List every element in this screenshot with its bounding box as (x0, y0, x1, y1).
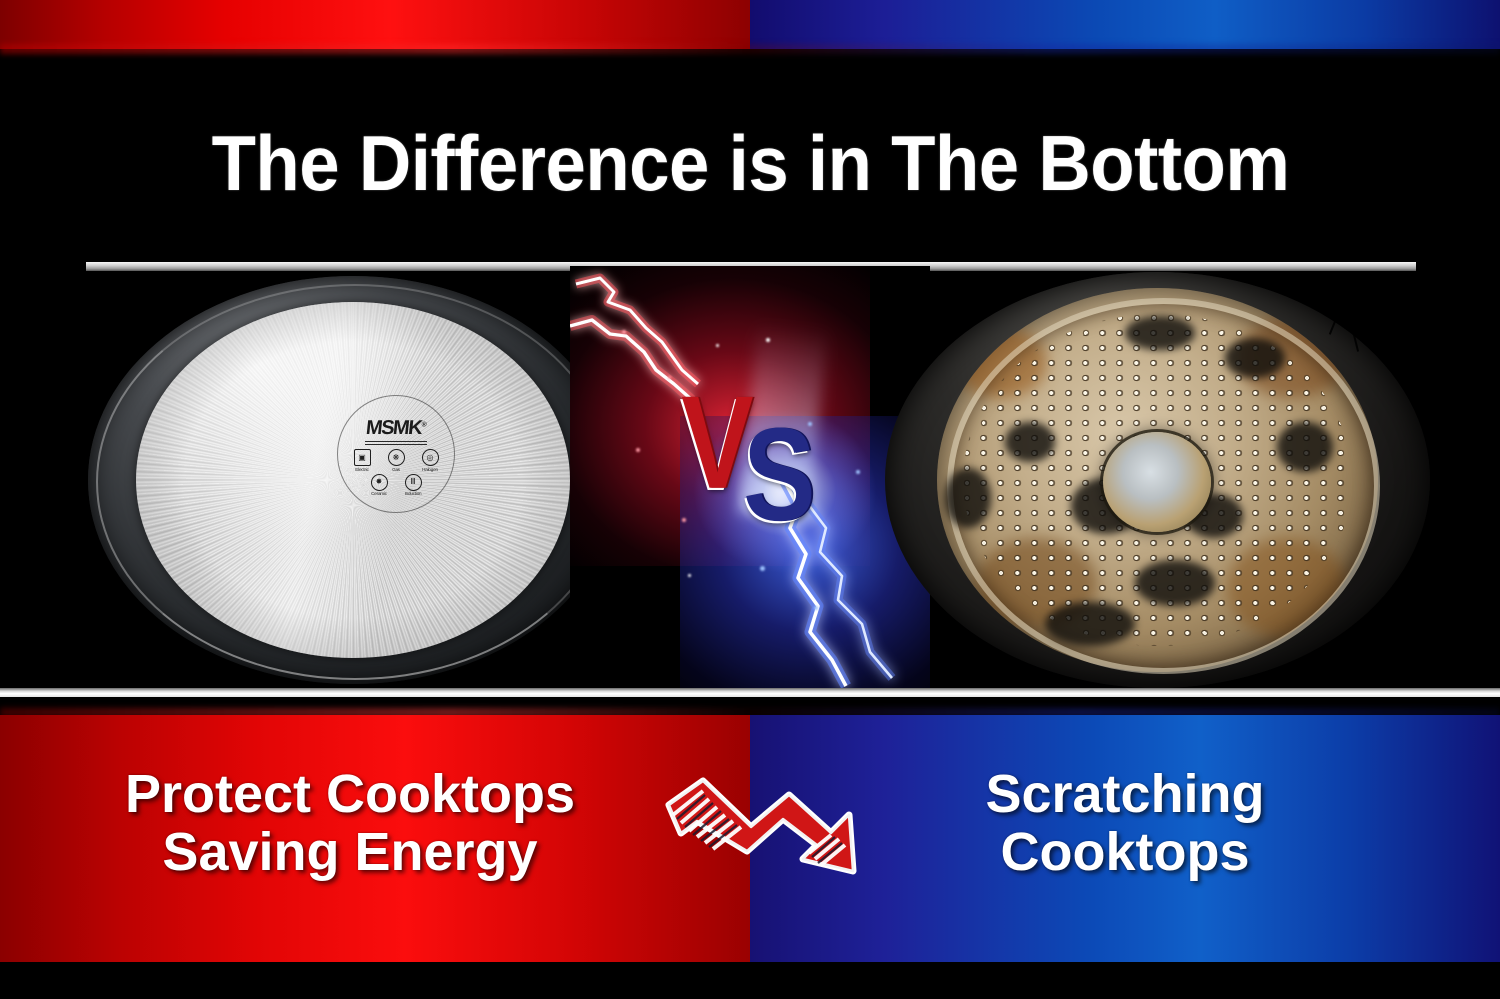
vs-badge: V S (570, 266, 930, 690)
right-caption-line-1: Scratching (875, 765, 1375, 823)
carbon-burn-mark (945, 468, 991, 528)
cooktop-icon-electric: ▣ Electric (346, 449, 378, 472)
bottom-black-strip (0, 962, 1500, 999)
halogen-icon: ◎ (422, 449, 439, 466)
carbon-burn-mark (1005, 422, 1055, 462)
carbon-burn-mark (1125, 316, 1195, 350)
cooktop-icon-induction: Ⅲ Induction (397, 474, 429, 497)
electric-icon: ▣ (354, 449, 371, 466)
cooktop-icon-halogen: ◎ Halogen (414, 449, 446, 472)
logo-rule-2 (365, 444, 427, 445)
zigzag-down-arrow-icon (663, 775, 863, 885)
right-caption-line-2: Cooktops (875, 823, 1375, 881)
gas-icon: ❋ (388, 449, 405, 466)
page-title: The Difference is in The Bottom (211, 118, 1289, 209)
headline-container: The Difference is in The Bottom (0, 108, 1500, 218)
product-comparison-poster: The Difference is in The Bottom MSMK® ▣ … (0, 0, 1500, 999)
metallic-strip-bottom (0, 688, 1500, 697)
cooktop-compatibility-icons: ▣ Electric ❋ Gas ◎ Halogen ✸ Ceramic (344, 449, 448, 496)
top-band-glow (0, 44, 1500, 54)
caption-panel: Protect Cooktops Saving Energy Scratchin… (0, 715, 1500, 962)
ceramic-label: Ceramic (371, 491, 387, 496)
logo-rule-1 (365, 441, 427, 442)
left-caption-line-2: Saving Energy (40, 823, 660, 881)
zigzag-arrow-container (663, 775, 863, 885)
carbon-burn-mark (1277, 422, 1333, 472)
cooktop-icon-ceramic: ✸ Ceramic (363, 474, 395, 497)
left-caption: Protect Cooktops Saving Energy (40, 765, 660, 882)
induction-icon: Ⅲ (405, 474, 422, 491)
trademark-symbol: ® (421, 421, 427, 428)
left-caption-line-1: Protect Cooktops (40, 765, 660, 823)
cooktop-icon-gas: ❋ Gas (380, 449, 412, 472)
msmk-pan-image: MSMK® ▣ Electric ❋ Gas ◎ Halogen (88, 276, 618, 684)
induction-label: Induction (405, 491, 422, 496)
halogen-label: Halogen (422, 467, 438, 472)
carbon-burn-mark (1225, 338, 1285, 378)
top-band-red-half (0, 0, 750, 49)
top-color-band (0, 0, 1500, 49)
carbon-burn-mark (1135, 560, 1215, 606)
top-band-blue-half (750, 0, 1500, 49)
right-caption: Scratching Cooktops (875, 765, 1375, 882)
msmk-logo-medallion: MSMK® ▣ Electric ❋ Gas ◎ Halogen (337, 395, 455, 513)
vs-lightning-scene: V S (570, 266, 930, 690)
brand-name: MSMK (365, 417, 422, 439)
burnt-pan-image (885, 272, 1430, 688)
brand-logo-text: MSMK® (365, 417, 428, 440)
ceramic-icon: ✸ (371, 474, 388, 491)
center-scorch-blob (1103, 432, 1211, 532)
carbon-burn-mark (1045, 602, 1135, 646)
comparison-photo-strip: MSMK® ▣ Electric ❋ Gas ◎ Halogen (0, 262, 1500, 697)
vs-letter-s: S (743, 409, 815, 541)
gas-label: Gas (392, 467, 400, 472)
electric-label: Electric (355, 467, 368, 472)
